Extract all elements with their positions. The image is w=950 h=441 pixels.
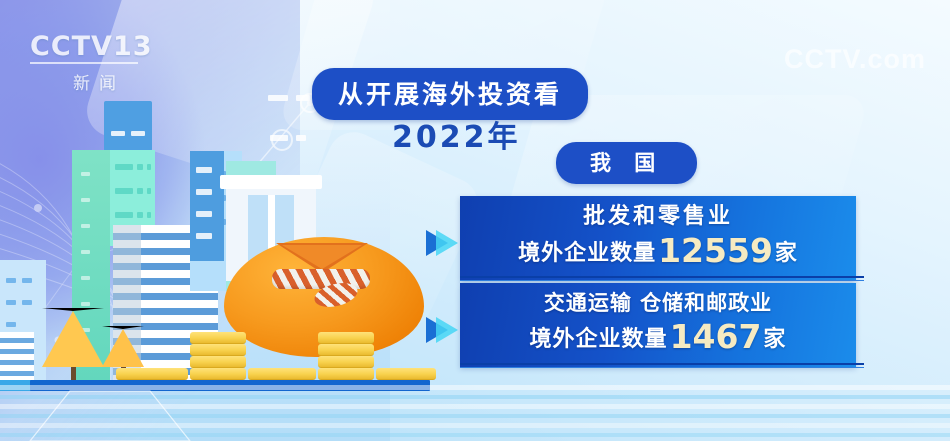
building-blue-medium [190, 151, 224, 261]
cctv-com-watermark: CCTV.com [784, 44, 926, 75]
triangle-right-icon [436, 317, 458, 343]
stat-label-1: 批发和零售业 [460, 204, 856, 231]
coin-stack-mid-left [190, 332, 246, 380]
logo-subtitle: 新闻 [30, 69, 150, 94]
logo-cctv-text: CCTV [30, 31, 113, 62]
stat-number-1: 12559 [658, 231, 773, 270]
stat-bar-1-underline [460, 276, 864, 278]
stat-bar-2-underline [460, 363, 864, 365]
news-graphic-screen: CCTV13 新闻 CCTV.com [0, 0, 950, 441]
sky-dash-2 [296, 95, 310, 101]
stat-number-2: 1467 [670, 317, 762, 356]
logo-channel-number: 13 [113, 31, 153, 62]
sky-dash-7 [296, 135, 306, 141]
stat-unit-2: 家 [763, 327, 786, 352]
triangle-right-icon [436, 230, 458, 256]
stat-label-2: 交通运输 仓储和邮政业 [460, 291, 856, 317]
coin-stack-center [248, 368, 316, 380]
cctv13-logo: CCTV13 新闻 [30, 33, 150, 95]
country-pill: 我 国 [556, 142, 697, 184]
year-label: 2022年 [392, 112, 521, 156]
coin-stack-right [376, 368, 436, 380]
stat-unit-1: 家 [775, 241, 798, 266]
stat-bar-1: 批发和零售业 境外企业数量12559家 [460, 196, 856, 281]
building-blue-small [104, 101, 152, 151]
coin-stack-mid-right [318, 332, 374, 380]
sky-dash-1 [268, 95, 288, 101]
tree-large [42, 308, 104, 380]
stat-bar-2-underline2 [460, 367, 864, 368]
building-white-stripe-left [0, 332, 34, 380]
stat-bar-2: 交通运输 仓储和邮政业 境外企业数量1467家 [460, 283, 856, 367]
stat-prefix-2: 境外企业数量 [530, 327, 668, 352]
country-text: 我 国 [590, 151, 663, 175]
logo-rule [30, 62, 138, 64]
money-bag-mouth-inner [282, 245, 362, 269]
headline-text: 从开展海外投资看 [338, 80, 562, 109]
stat-bar-1-underline2 [460, 280, 864, 281]
stat-value-line-2: 境外企业数量1467家 [460, 317, 856, 357]
coin-stack-left [116, 368, 188, 380]
arch-gate-top [220, 175, 322, 189]
sky-dash-6 [270, 135, 288, 141]
stat-value-line-1: 境外企业数量12559家 [460, 231, 856, 271]
stat-prefix-1: 境外企业数量 [518, 241, 656, 266]
floor-stripes [0, 381, 950, 441]
logo-wordmark: CCTV13 [30, 33, 150, 60]
